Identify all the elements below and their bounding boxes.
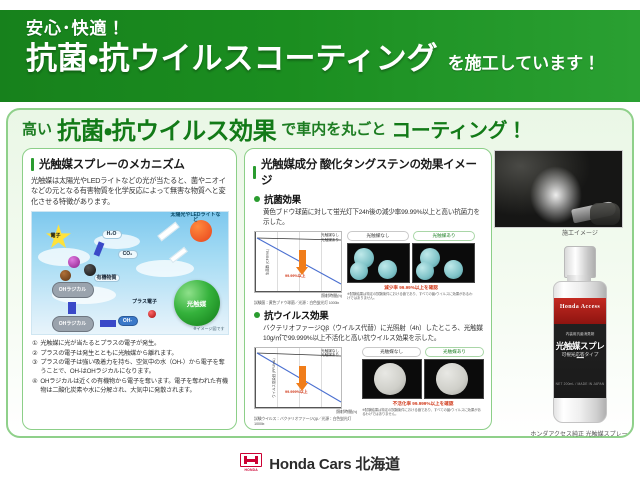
antibacterial-heading: 抗菌効果	[264, 192, 301, 206]
organic-orb	[84, 264, 96, 276]
logo-bar	[244, 459, 258, 462]
title-accent-bar	[253, 166, 256, 179]
antibacterial-chart-annotation: 99.99%以上	[285, 274, 305, 279]
antiviral-body: バクテリオファージQβ（ウイルス代替）に光照射（4h）したところ、光触媒10g/…	[263, 324, 484, 344]
note-index: ④	[32, 377, 37, 396]
note-item: ② プラスの電子は発生とともに光触媒から離れます。	[32, 349, 229, 358]
petri-dish	[378, 260, 397, 279]
compare-label-without: 光触媒なし	[347, 231, 409, 241]
antibacterial-chart-wrap: 99.99%以上 光触媒なし 光触媒あり 生菌数 (CFU/mL) 照射時間(h…	[254, 231, 342, 305]
sun-label: 電子	[51, 232, 61, 239]
cloud-shape	[136, 260, 194, 277]
header-kicker: 安心･快適！	[26, 20, 640, 39]
antibacterial-chart-ylabel: 生菌数 (CFU/mL)	[265, 249, 270, 275]
compare-labels: 光触媒なし 光触媒あり	[362, 347, 484, 357]
petri-pane-without	[362, 359, 422, 399]
spray-application-photo	[494, 150, 623, 228]
note-text: プラスの電子は発生とともに光触媒から離れます。	[40, 349, 177, 358]
bottle-brand: Honda Access	[554, 304, 606, 310]
co2-chip: CO₂	[118, 250, 138, 259]
subtitle-mid: で車内を丸ごと	[281, 118, 386, 139]
compare-images	[347, 243, 475, 283]
bottle-product-sub: 可視光応答タイプ	[554, 352, 606, 358]
blue-arrow-left	[100, 320, 116, 327]
mechanism-title: 光触媒スプレーのメカニズム	[39, 156, 185, 172]
compare-labels: 光触媒なし 光触媒あり	[347, 231, 475, 241]
blue-arrow-up	[68, 302, 76, 314]
logo-wordmark: HONDA	[240, 468, 262, 472]
header-headline: 抗菌・抗ウイルスコーティング	[26, 41, 438, 77]
subtitle-emphasis-2: コーティング！	[391, 114, 526, 143]
organic-orb	[60, 270, 71, 281]
plus-electron-orb	[148, 310, 156, 318]
decrease-arrow-icon	[299, 250, 306, 267]
legend-entry: 光触媒あり	[321, 238, 339, 242]
antiviral-chart: 99.999%以上 光触媒なし 光触媒あり ウイルス感染価 (PFU/mL)	[254, 347, 342, 409]
subtitle-lead: 高い	[22, 118, 52, 139]
note-item: ④ OHラジカルは近くの有機物から電子を奪います。電子を奪われた有機物は二酸化炭…	[32, 377, 229, 396]
antiviral-heading: 抗ウイルス効果	[264, 308, 328, 322]
petri-dish	[416, 262, 434, 280]
effects-title: 光触媒成分 酸化タングステンの効果イメージ	[261, 156, 484, 188]
petri-pane-with	[412, 243, 475, 283]
note-index: ②	[32, 349, 37, 358]
bullet-dot-icon	[254, 312, 260, 318]
advertisement-page: 安心･快適！ 抗菌・抗ウイルスコーティング を施工しています！ 高い 抗菌・抗ウ…	[0, 0, 640, 480]
operator-hand	[590, 203, 620, 225]
antiviral-chart-caption: 試験ウイルス：バクテリオファージQβ／光源：白色蛍光灯 1000lx	[254, 416, 357, 426]
bottle-red-band	[554, 298, 606, 324]
antibacterial-compare: 光触媒なし 光触媒あり	[347, 231, 475, 301]
mechanism-body: 光触媒は太陽光やLEDライトなどの光が当たると、菌やニオイなどの元となる有害物質…	[31, 176, 229, 207]
antiviral-chart-ylabel: ウイルス感染価 (PFU/mL)	[271, 358, 276, 397]
antiviral-chart-wrap: 99.999%以上 光触媒なし 光触媒あり ウイルス感染価 (PFU/mL) 照…	[254, 347, 357, 426]
compare-label-with: 光触媒あり	[425, 347, 484, 357]
antiviral-compare: 光触媒なし 光触媒あり 不活化率 99.999%以上を確認 ※試験結果は特定の試…	[362, 347, 484, 417]
honda-logo-icon: HONDA	[240, 453, 262, 473]
subtitle-emphasis: 抗菌・抗ウイルス効果	[57, 111, 276, 146]
header-banner: 安心･快適！ 抗菌・抗ウイルスコーティング を施工しています！	[0, 10, 640, 102]
effects-title-row: 光触媒成分 酸化タングステンの効果イメージ	[253, 156, 484, 188]
mechanism-panel: 光触媒スプレーのメカニズム 光触媒は太陽光やLEDライトなどの光が当たると、菌や…	[22, 148, 237, 430]
red-sun-icon	[190, 220, 212, 242]
note-text: プラスの電子は強い吸着力を持ち、空気中の水（OH-）から電子を奪うことで、OH-…	[40, 358, 229, 377]
bottle-small-text: 内装用抗菌消臭剤	[554, 332, 606, 337]
header-tail: を施工しています！	[448, 49, 601, 74]
bottle-caption: ホンダアクセス純正 光触媒スプレー	[518, 429, 640, 438]
note-index: ③	[32, 358, 37, 377]
plus-electron-label: プラス電子	[128, 298, 162, 307]
subtitle-line: 高い 抗菌・抗ウイルス効果 で車内を丸ごと コーティング！	[22, 113, 622, 143]
note-text: 光触媒に光が当たるとプラスの電子が発生。	[40, 339, 160, 348]
antiviral-compare-subnote: ※試験結果は特定の試験条件における値であり、すべての菌・ウイルスに効果があるわけ…	[362, 408, 484, 417]
petri-dish	[350, 262, 368, 280]
bottle-foot-text: NET 200mL / MADE IN JAPAN	[554, 382, 606, 386]
compare-images	[362, 359, 484, 399]
antibacterial-compare-note: 減少率 99.99%以上を確認	[347, 285, 475, 291]
note-item: ① 光触媒に光が当たるとプラスの電子が発生。	[32, 339, 229, 348]
dealer-name: Honda Cars 北海道	[269, 453, 400, 474]
legend-entry: 光触媒あり	[321, 353, 339, 357]
legend-entry: 光触媒なし	[321, 233, 339, 237]
antibacterial-chart-legend: 光触媒なし 光触媒あり	[321, 233, 339, 243]
h2o-chip: H₂O	[102, 230, 122, 239]
diagram-caption: ※イメージ図です	[193, 326, 224, 332]
antiviral-figures: 99.999%以上 光触媒なし 光触媒あり ウイルス感染価 (PFU/mL) 照…	[254, 347, 484, 426]
title-accent-bar	[31, 158, 34, 171]
compare-label-with: 光触媒あり	[413, 231, 475, 241]
oh-radical-chip: OHラジカル	[52, 316, 94, 332]
spray-photo-caption: 施工イメージ	[562, 228, 632, 237]
antiviral-compare-note: 不活化率 99.999%以上を確認	[362, 401, 484, 407]
decrease-arrow-icon	[299, 366, 306, 383]
note-text: OHラジカルは近くの有機物から電子を奪います。電子を奪われた有機物は二酸化炭素や…	[40, 377, 229, 396]
effects-panel: 光触媒成分 酸化タングステンの効果イメージ 抗菌効果 黄色ブドウ球菌に対して蛍光…	[244, 148, 492, 430]
electron-orb	[68, 256, 80, 268]
oh-radical-chip: OHラジカル	[52, 282, 94, 298]
note-item: ③ プラスの電子は強い吸着力を持ち、空気中の水（OH-）から電子を奪うことで、O…	[32, 358, 229, 377]
antiviral-chart-legend: 光触媒なし 光触媒あり	[321, 349, 339, 359]
footer: HONDA Honda Cars 北海道	[0, 446, 640, 480]
petri-dish	[436, 363, 468, 395]
lamp-icon	[157, 222, 179, 242]
note-index: ①	[32, 339, 37, 348]
antiviral-heading-row: 抗ウイルス効果	[254, 308, 484, 322]
organic-label: 有機物質	[94, 274, 120, 282]
antibacterial-chart-caption: 試験菌：黄色ブドウ球菌／光源：白色蛍光灯 1000lx	[254, 300, 342, 305]
petri-dish	[444, 260, 463, 279]
light-source-label: 太陽光やLEDライトなど	[168, 214, 224, 222]
header-main-line: 抗菌・抗ウイルスコーティング を施工しています！	[26, 41, 640, 77]
compare-label-without: 光触媒なし	[362, 347, 421, 357]
antibacterial-chart: 99.99%以上 光触媒なし 光触媒あり 生菌数 (CFU/mL)	[254, 231, 342, 293]
bottle-body: Honda Access 内装用抗菌消臭剤 光触媒スプレー 可視光応答タイプ N…	[553, 281, 607, 423]
product-bottle: Honda Access 内装用抗菌消臭剤 光触媒スプレー 可視光応答タイプ N…	[548, 246, 610, 426]
mechanism-title-row: 光触媒スプレーのメカニズム	[31, 156, 229, 172]
cloud-shape	[38, 248, 90, 266]
bullet-dot-icon	[254, 196, 260, 202]
petri-pane-with	[424, 359, 484, 399]
antibacterial-figures: 99.99%以上 光触媒なし 光触媒あり 生菌数 (CFU/mL) 照射時間(h…	[254, 231, 484, 305]
mechanism-notes: ① 光触媒に光が当たるとプラスの電子が発生。 ② プラスの電子は発生とともに光触…	[32, 339, 229, 395]
antibacterial-heading-row: 抗菌効果	[254, 192, 484, 206]
photocatalyst-label: 光触媒	[177, 298, 217, 308]
mechanism-diagram: 電子 太陽光やLEDライトなど H₂O CO₂ 有機物質 OHラジカル OHラジ…	[31, 211, 229, 335]
antiviral-chart-annotation: 99.999%以上	[285, 390, 308, 395]
antibacterial-body: 黄色ブドウ球菌に対して蛍光灯下24h後の減少率99.99%以上と高い抗菌力を示し…	[263, 208, 484, 228]
petri-dish	[374, 363, 406, 395]
bottle-cap	[564, 246, 596, 278]
antibacterial-compare-subnote: ※試験結果は特定の試験条件における値であり、すべての菌・ウイルスに効果があるわけ…	[347, 292, 475, 301]
petri-pane-without	[347, 243, 410, 283]
oh-minus-chip: OH-	[118, 316, 138, 326]
